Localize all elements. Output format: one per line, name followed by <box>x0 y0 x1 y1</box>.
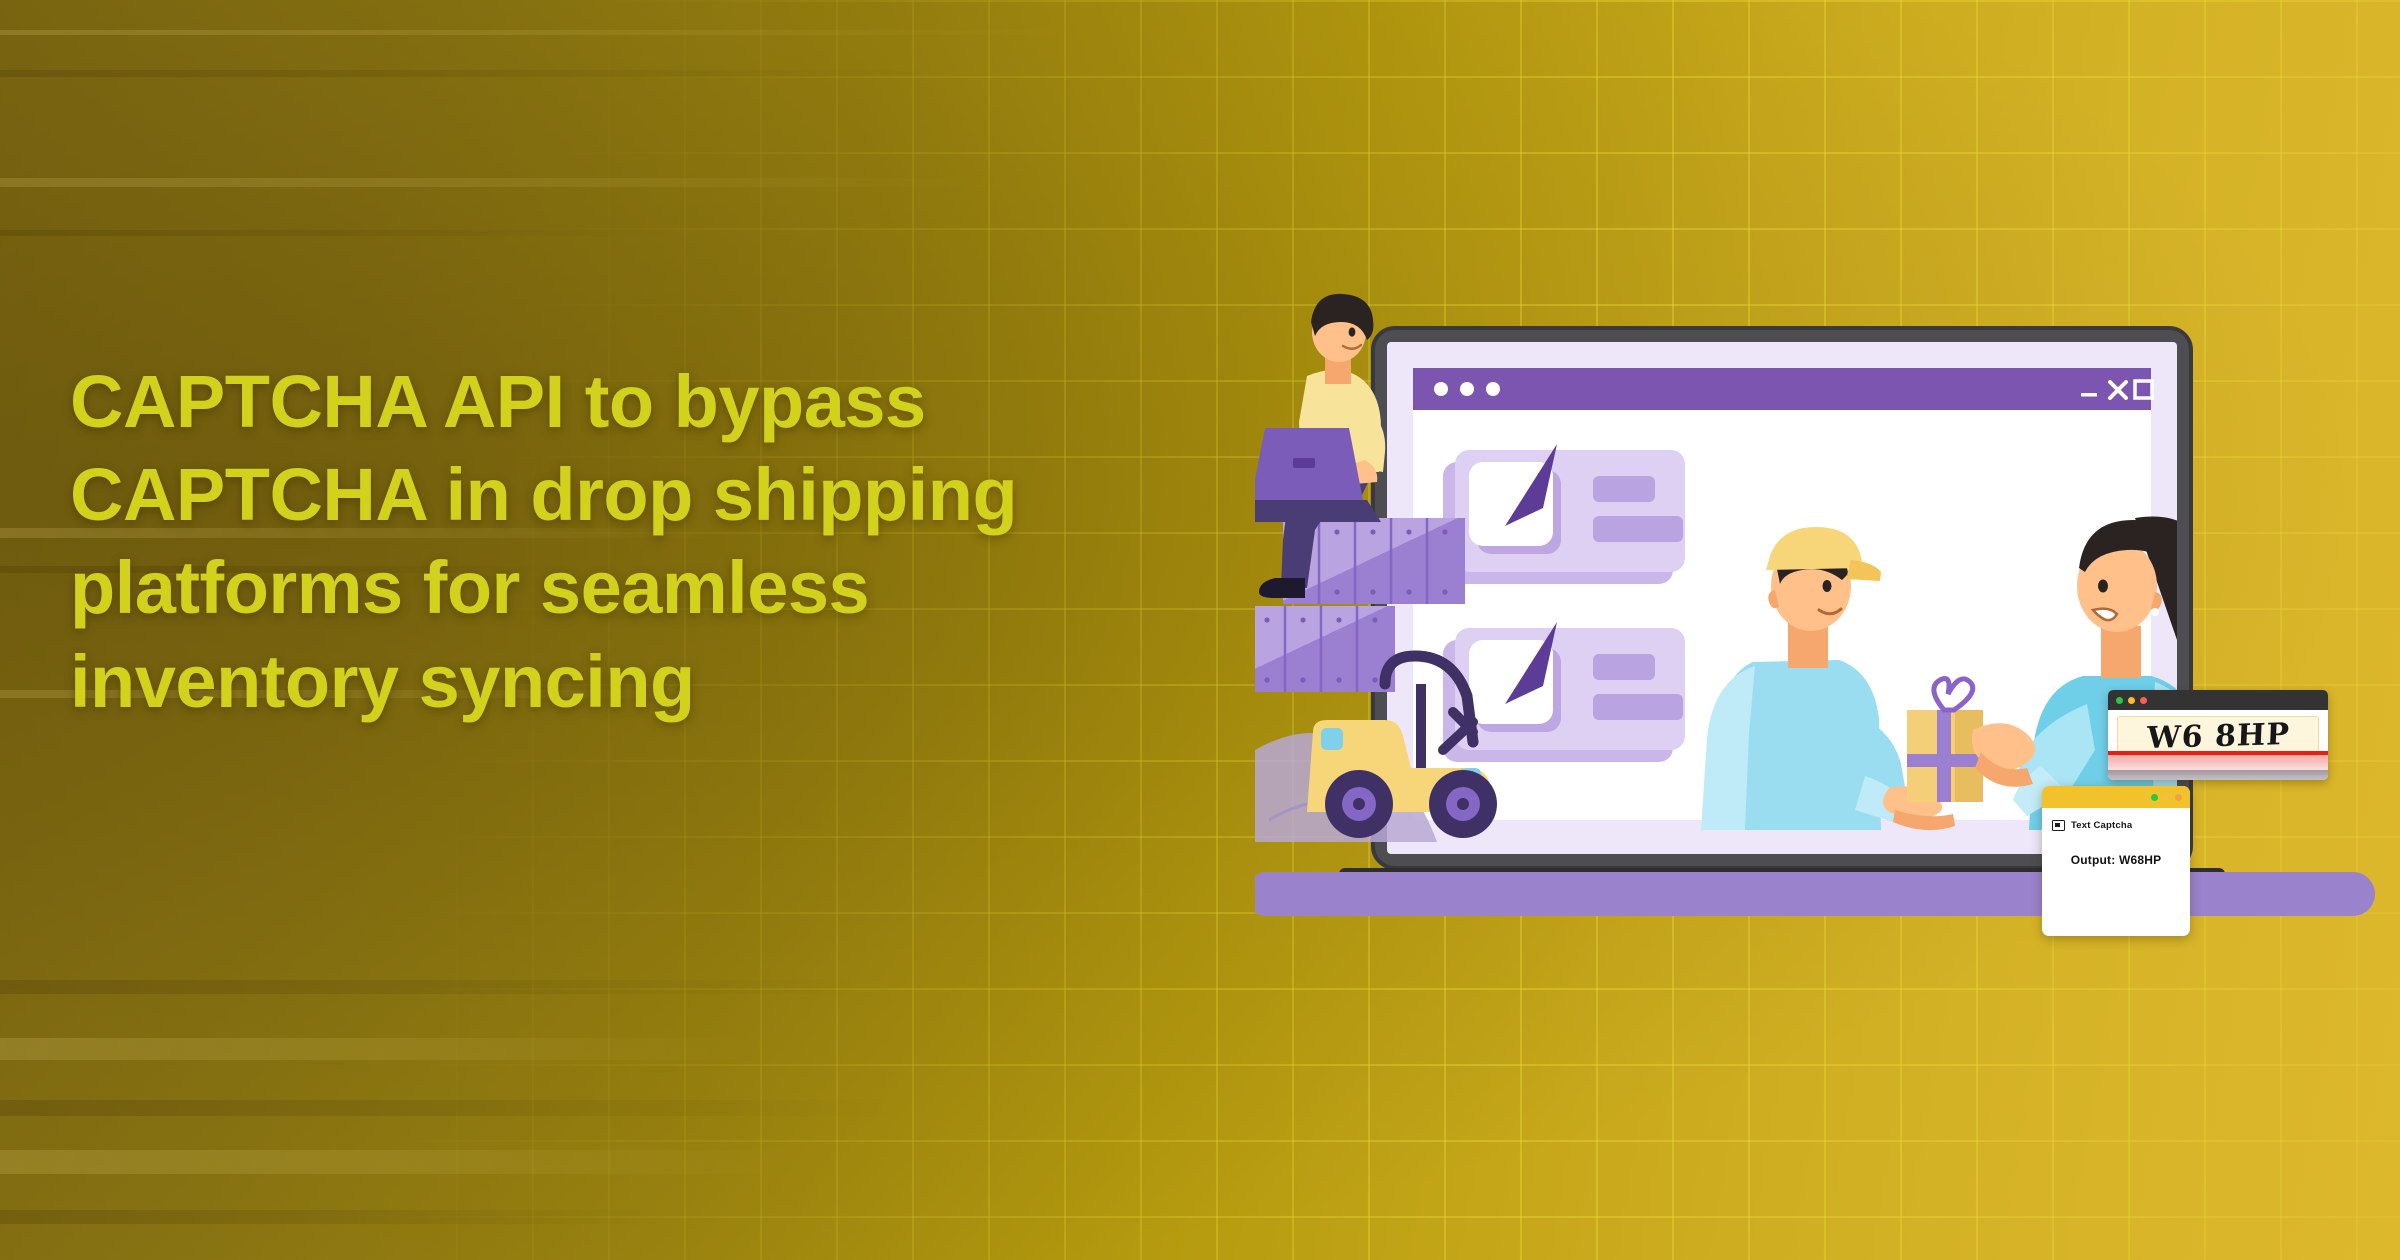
headline-line-2: CAPTCHA in drop shipping <box>70 448 1310 541</box>
traffic-light-green-icon[interactable] <box>2151 794 2158 801</box>
headline-line-3: platforms for seamless <box>70 541 1310 634</box>
captcha-output-header: Text Captcha <box>2052 820 2180 831</box>
headline-line-4: inventory syncing <box>70 635 1310 728</box>
dropshipping-illustration <box>1255 280 2375 960</box>
captcha-image-window[interactable]: W6 8HP <box>2108 690 2328 780</box>
traffic-light-yellow-icon[interactable] <box>2163 794 2170 801</box>
captcha-output-title: Text Captcha <box>2071 820 2132 831</box>
traffic-light-orange-icon[interactable] <box>2175 794 2182 801</box>
checklist-card-1 <box>1443 444 1685 584</box>
captcha-image-body: W6 8HP <box>2108 710 2328 780</box>
captcha-challenge-text: W6 8HP <box>2146 717 2290 756</box>
captcha-output-window[interactable]: Text Captcha Output: W68HP <box>2042 786 2190 936</box>
traffic-light-red-icon[interactable] <box>2140 697 2147 704</box>
page-title: CAPTCHA API to bypass CAPTCHA in drop sh… <box>70 355 1310 728</box>
ground-platform <box>1255 872 2375 916</box>
minimize-icon <box>2081 393 2097 397</box>
captcha-challenge-plate: W6 8HP <box>2117 716 2319 756</box>
captcha-output-value: Output: W68HP <box>2052 853 2180 867</box>
captcha-image-titlebar <box>2108 690 2328 710</box>
traffic-light-yellow-icon[interactable] <box>2128 697 2135 704</box>
banner-stage: CAPTCHA API to bypass CAPTCHA in drop sh… <box>0 0 2400 1260</box>
checklist-card-2 <box>1443 622 1685 762</box>
text-captcha-icon <box>2052 820 2065 831</box>
scan-fade <box>2108 770 2328 780</box>
traffic-light-green-icon[interactable] <box>2116 697 2123 704</box>
browser-titlebar <box>1413 368 2151 410</box>
captcha-output-content: Text Captcha Output: W68HP <box>2042 808 2190 867</box>
headline-line-1: CAPTCHA API to bypass <box>70 355 1310 448</box>
captcha-output-titlebar <box>2042 786 2190 808</box>
